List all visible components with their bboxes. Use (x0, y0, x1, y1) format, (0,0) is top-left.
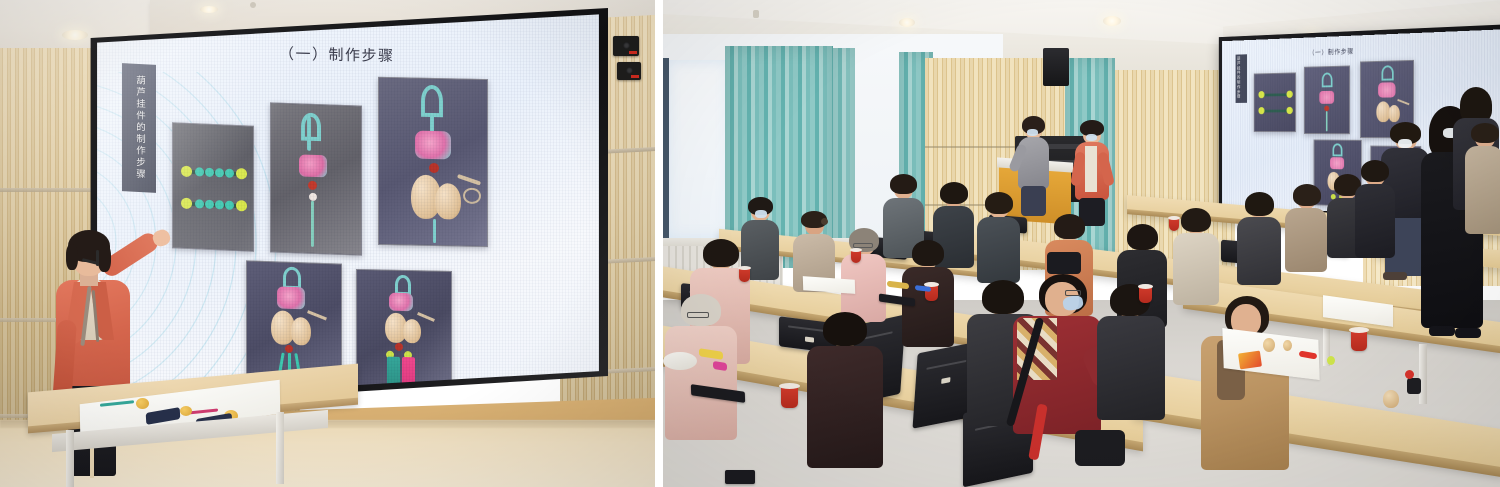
camera-icon (613, 36, 639, 56)
audience-member (663, 300, 739, 440)
window-frame (663, 58, 669, 240)
cup-rim (1138, 284, 1153, 289)
plate (663, 352, 697, 370)
audience-member (803, 318, 887, 468)
screenshot-root: 葫芦挂件的制作步骤 （一）制作步骤 (0, 0, 1500, 487)
craft-bead (1405, 370, 1414, 379)
standing-observer (1463, 126, 1500, 236)
hair (66, 244, 78, 270)
shoe (1455, 328, 1481, 338)
downlight (62, 30, 88, 40)
downlight (1103, 16, 1121, 26)
cup-rim (1349, 327, 1369, 333)
hair (98, 244, 111, 272)
led-screen: 葫芦挂件的制作步骤 （一）制作步骤 (88, 8, 608, 408)
audience-member-tan-coat (1197, 300, 1293, 470)
paper-cup (739, 268, 750, 282)
panel-divider (655, 0, 663, 487)
sprinkler-head (753, 10, 759, 18)
demo-table (28, 378, 358, 473)
craft-material (1407, 378, 1421, 394)
window (667, 60, 729, 238)
audience-member (1235, 196, 1283, 284)
gourd (1383, 390, 1399, 408)
headset-band (96, 250, 99, 266)
cup-rim (1168, 216, 1180, 220)
craft-bead (1327, 356, 1335, 365)
table-leg (66, 430, 74, 487)
audience-member (839, 232, 889, 322)
screen-glare (94, 12, 602, 404)
cup-rim (738, 266, 751, 270)
cup-rim (779, 383, 800, 389)
table-leg (276, 412, 284, 484)
craft-material (887, 281, 909, 290)
smartphone[interactable] (725, 470, 755, 484)
paper-cup (781, 386, 798, 408)
eyeglasses-icon (687, 312, 709, 318)
gourd (1283, 340, 1292, 351)
gourd (136, 398, 149, 409)
gourd (1263, 338, 1275, 352)
audience-member (975, 196, 1023, 284)
shoe (1429, 326, 1455, 336)
photo-panel-right: 葫芦挂件的制作步骤 （一）制作步骤 (663, 0, 1500, 487)
paper-cup (1351, 330, 1367, 351)
shoe (1383, 272, 1407, 280)
ceiling-speaker (1043, 48, 1069, 86)
craft-material (1238, 351, 1262, 370)
standing-observer (1353, 164, 1397, 260)
audience-member (1283, 188, 1329, 272)
presenter-coral-coat (1071, 122, 1113, 226)
screen-surface: 葫芦挂件的制作步骤 （一）制作步骤 (94, 12, 602, 404)
lap (1075, 430, 1125, 466)
gourd (180, 406, 192, 416)
sensor-icon (617, 62, 641, 80)
photo-panel-left: 葫芦挂件的制作步骤 （一）制作步骤 (0, 0, 655, 487)
audience-member (1093, 290, 1169, 420)
camera-bag (1047, 252, 1081, 274)
eyeglasses-icon (1065, 290, 1081, 296)
cup-rim (850, 248, 862, 252)
downlight (899, 18, 915, 27)
